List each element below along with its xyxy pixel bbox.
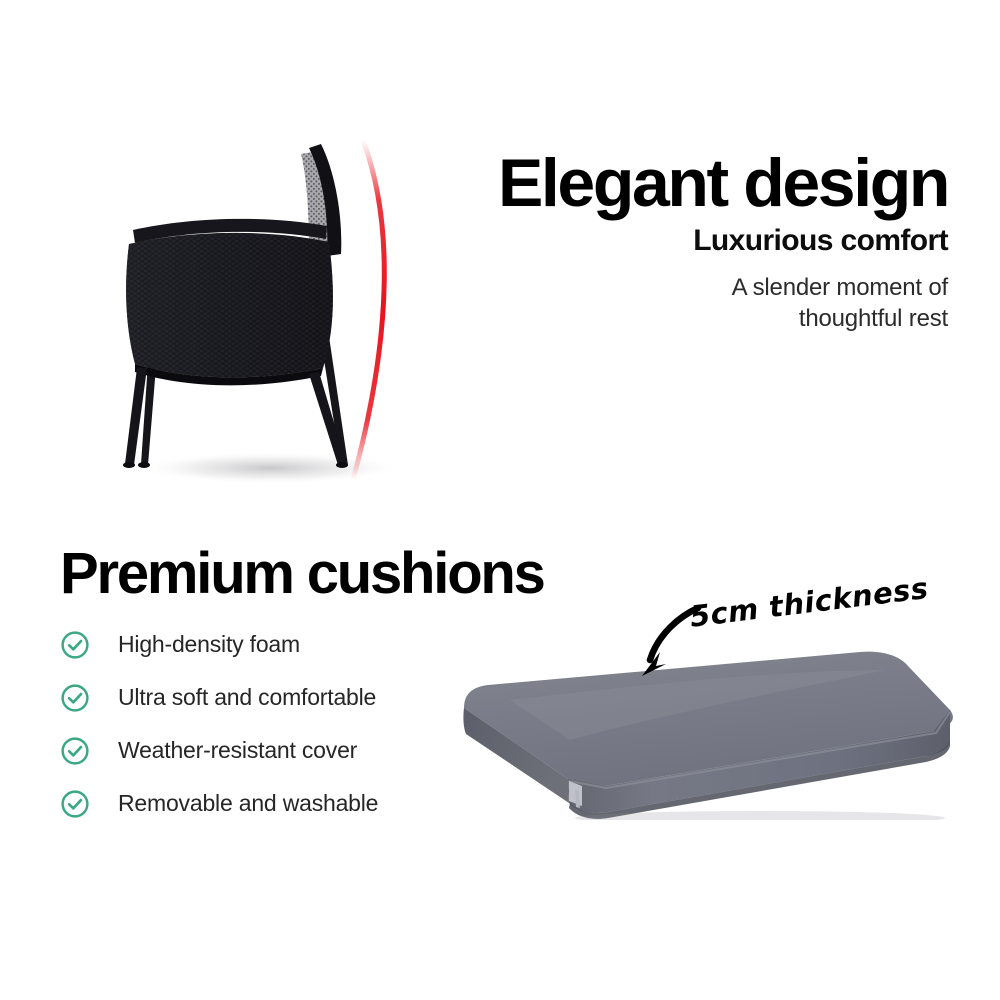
- subheading: Luxurious comfort: [478, 223, 948, 258]
- page-title: Elegant design: [478, 150, 948, 217]
- feature-label: Removable and washable: [118, 790, 378, 817]
- product-feature-image: Elegant design Luxurious comfort A slend…: [0, 0, 1000, 1000]
- chair-foot-front-left: [123, 462, 135, 468]
- red-accent-curve: [353, 140, 384, 480]
- body-copy-line-1: A slender moment of: [732, 274, 948, 301]
- list-item: Weather-resistant cover: [60, 724, 460, 777]
- list-item: Ultra soft and comfortable: [60, 671, 460, 724]
- check-circle-icon: [60, 736, 90, 766]
- chair-ground-shadow: [138, 452, 402, 484]
- feature-list: High-density foam Ultra soft and comfort…: [60, 618, 460, 830]
- chair-woven-body-shade: [126, 233, 333, 378]
- check-circle-icon: [60, 630, 90, 660]
- body-copy: A slender moment of thoughtful rest: [478, 272, 948, 334]
- check-circle-icon: [60, 683, 90, 713]
- list-item: Removable and washable: [60, 777, 460, 830]
- check-circle-icon: [60, 789, 90, 819]
- chair-product-photo: [95, 120, 445, 500]
- feature-label: High-density foam: [118, 631, 300, 658]
- chair-foot-rear-left: [138, 462, 150, 468]
- list-item: High-density foam: [60, 618, 460, 671]
- feature-label: Ultra soft and comfortable: [118, 684, 376, 711]
- chair-foot-front-right: [336, 462, 348, 468]
- elegant-design-copy-block: Elegant design Luxurious comfort A slend…: [478, 150, 948, 334]
- feature-label: Weather-resistant cover: [118, 737, 357, 764]
- body-copy-line-2: thoughtful rest: [799, 305, 948, 332]
